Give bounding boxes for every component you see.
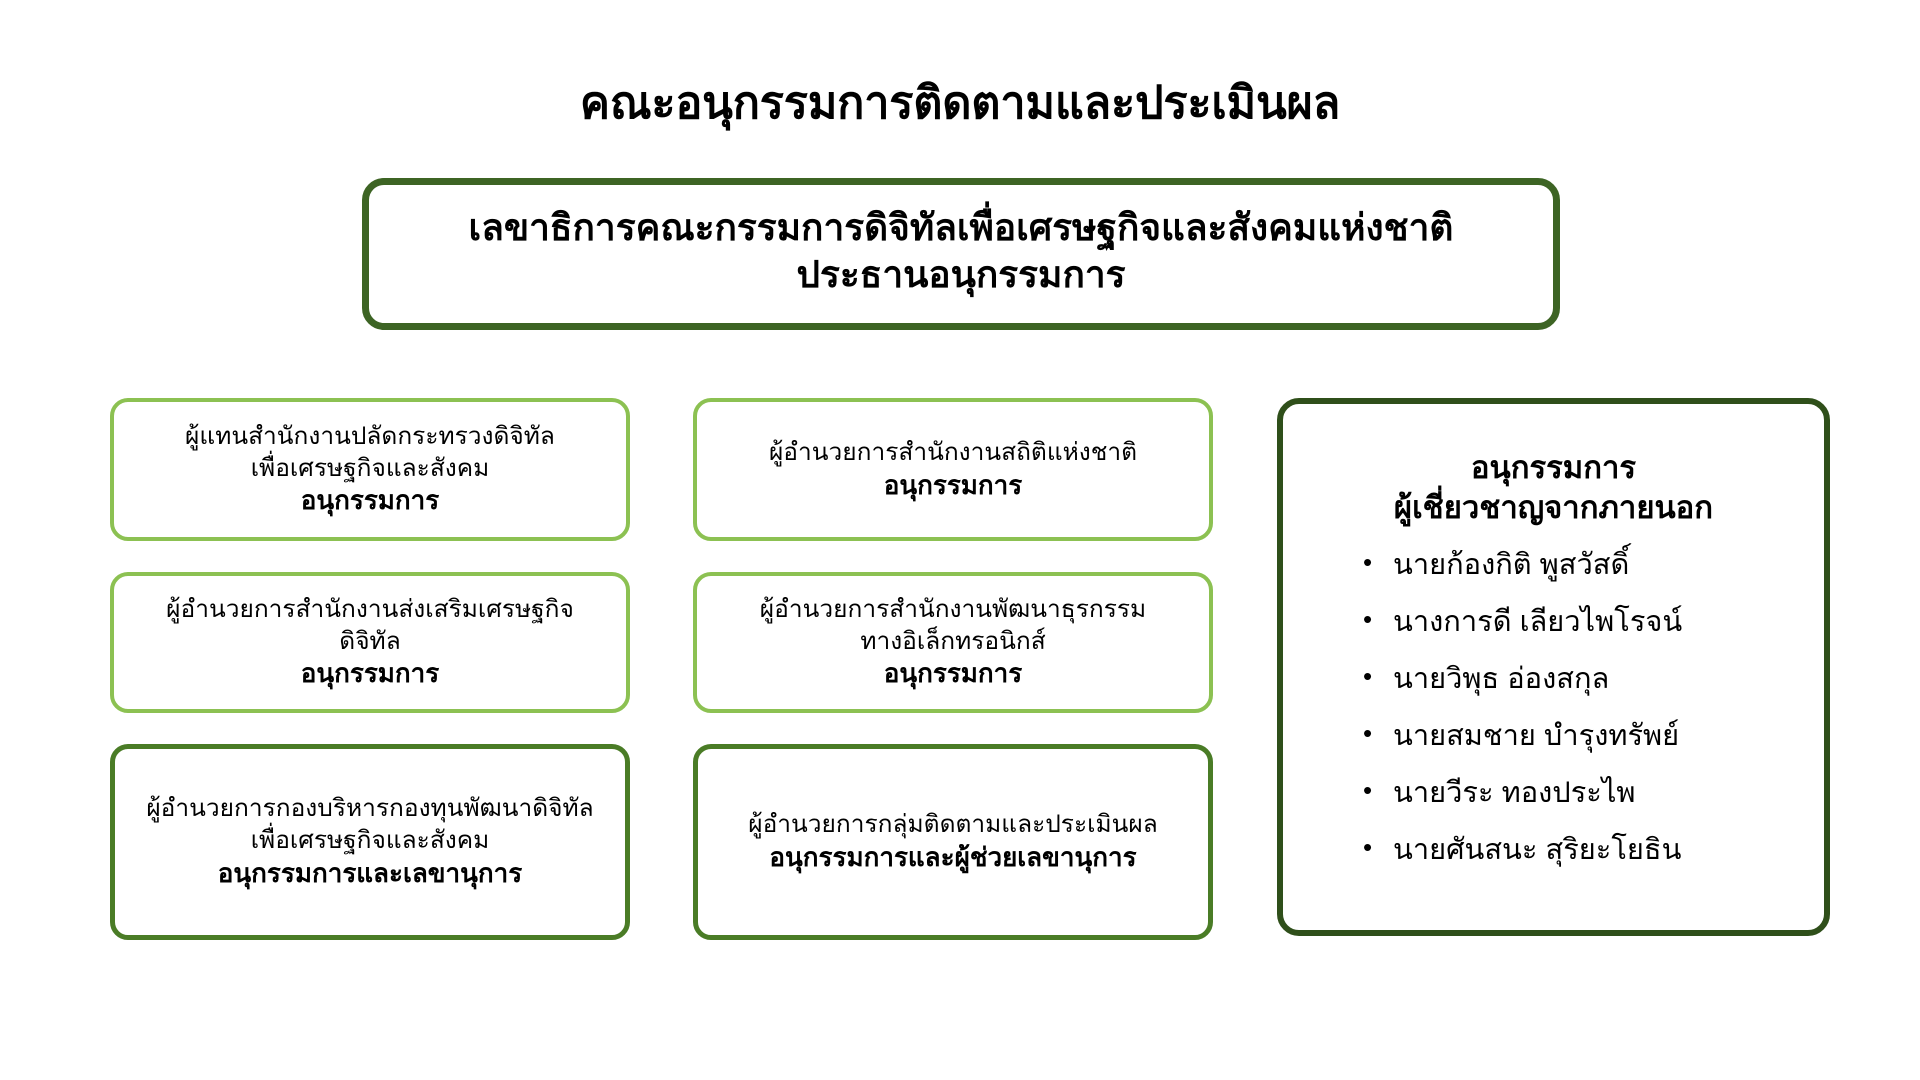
list-item: นายวิพุธ อ่องสกุล [1363,665,1798,694]
node-mid-1-line1: ผู้อำนวยการสำนักงานสถิติแห่งชาติ [769,437,1137,469]
middle-column: ผู้อำนวยการสำนักงานสถิติแห่งชาติ อนุกรรม… [693,398,1213,971]
chairman-name: เลขาธิการคณะกรรมการดิจิทัลเพื่อเศรษฐกิจแ… [469,204,1454,251]
list-item: นางการดี เลียวไพโรจน์ [1363,608,1798,637]
node-left-1-role: อนุกรรมการ [301,484,440,518]
node-left-1: ผู้แทนสำนักงานปลัดกระทรวงดิจิทัล เพื่อเศ… [110,398,630,541]
chairman-role: ประธานอนุกรรมการ [797,251,1126,298]
node-left-3-role: อนุกรรมการและเลขานุการ [218,857,522,891]
chairman-node: เลขาธิการคณะกรรมการดิจิทัลเพื่อเศรษฐกิจแ… [362,178,1560,330]
expert-panel-heading: อนุกรรมการ ผู้เชี่ยวชาญจากภายนอก [1309,448,1798,529]
node-left-2: ผู้อำนวยการสำนักงานส่งเสริมเศรษฐกิจดิจิท… [110,572,630,713]
node-left-1-line1: ผู้แทนสำนักงานปลัดกระทรวงดิจิทัล [185,421,555,453]
expert-panel: อนุกรรมการ ผู้เชี่ยวชาญจากภายนอก นายก้อง… [1277,398,1830,936]
node-left-3-line2: เพื่อเศรษฐกิจและสังคม [251,825,490,857]
node-mid-2-line2: ทางอิเล็กทรอนิกส์ [860,626,1045,658]
list-item: นายวีระ ทองประไพ [1363,779,1798,808]
expert-heading-line2: ผู้เชี่ยวชาญจากภายนอก [1309,488,1798,528]
node-left-3: ผู้อำนวยการกองบริหารกองทุนพัฒนาดิจิทัล เ… [110,744,630,940]
node-mid-2: ผู้อำนวยการสำนักงานพัฒนาธุรกรรม ทางอิเล็… [693,572,1213,713]
node-mid-2-line1: ผู้อำนวยการสำนักงานพัฒนาธุรกรรม [760,594,1146,626]
node-mid-2-role: อนุกรรมการ [884,657,1023,691]
node-left-2-line1: ผู้อำนวยการสำนักงานส่งเสริมเศรษฐกิจดิจิท… [136,594,604,658]
org-chart-page: คณะอนุกรรมการติดตามและประเมินผล เลขาธิกา… [0,0,1920,1080]
node-mid-3: ผู้อำนวยการกลุ่มติดตามและประเมินผล อนุกร… [693,744,1213,940]
node-left-3-line1: ผู้อำนวยการกองบริหารกองทุนพัฒนาดิจิทัล [146,793,593,825]
list-item: นายศันสนะ สุริยะโยธิน [1363,836,1798,865]
page-title: คณะอนุกรรมการติดตามและประเมินผล [0,78,1920,128]
node-mid-3-line1: ผู้อำนวยการกลุ่มติดตามและประเมินผล [748,809,1158,841]
node-left-2-role: อนุกรรมการ [301,657,440,691]
node-left-1-line2: เพื่อเศรษฐกิจและสังคม [251,453,490,485]
expert-heading-line1: อนุกรรมการ [1309,448,1798,488]
list-item: นายสมชาย บำรุงทรัพย์ [1363,722,1798,751]
node-mid-1: ผู้อำนวยการสำนักงานสถิติแห่งชาติ อนุกรรม… [693,398,1213,541]
expert-member-list: นายก้องกิติ พูสวัสดิ์ นางการดี เลียวไพโร… [1309,551,1798,893]
node-mid-3-role: อนุกรรมการและผู้ช่วยเลขานุการ [769,841,1136,875]
list-item: นายก้องกิติ พูสวัสดิ์ [1363,551,1798,580]
node-mid-1-role: อนุกรรมการ [884,469,1023,503]
left-column: ผู้แทนสำนักงานปลัดกระทรวงดิจิทัล เพื่อเศ… [110,398,630,971]
